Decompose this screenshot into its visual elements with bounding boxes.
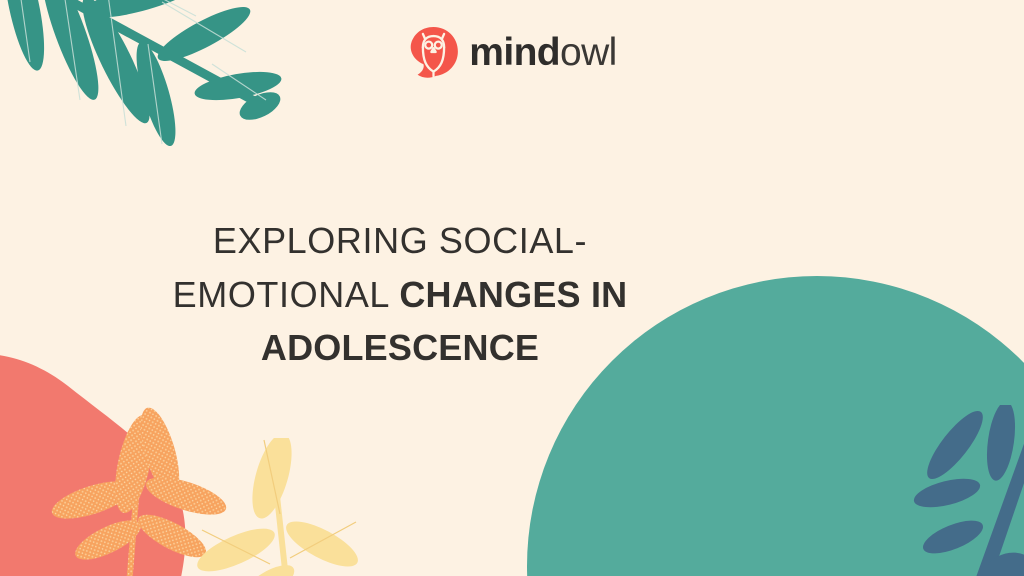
owl-logo-mark — [407, 26, 460, 79]
headline-line-1: EXPLORING SOCIAL- — [213, 220, 587, 261]
slide-headline: EXPLORING SOCIAL- EMOTIONAL CHANGES IN A… — [155, 214, 645, 375]
orange-leaf-branch — [40, 400, 270, 576]
yellow-leaf-branch — [180, 438, 360, 576]
brand-wordmark: mindowl — [469, 33, 617, 72]
brand-logo[interactable]: mindowl — [0, 26, 1024, 79]
presentation-slide: mindowl EXPLORING SOCIAL- EMOTIONAL CHAN… — [0, 0, 1024, 576]
headline-line-3-strong: ADOLESCENCE — [261, 327, 539, 368]
brand-wordmark-strong: mind — [469, 33, 560, 72]
headline-line-2-regular: EMOTIONAL — [173, 274, 400, 315]
brand-wordmark-light: owl — [560, 33, 617, 72]
headline-line-2-strong: CHANGES IN — [399, 274, 627, 315]
navy-leaf-branch — [905, 405, 1024, 576]
